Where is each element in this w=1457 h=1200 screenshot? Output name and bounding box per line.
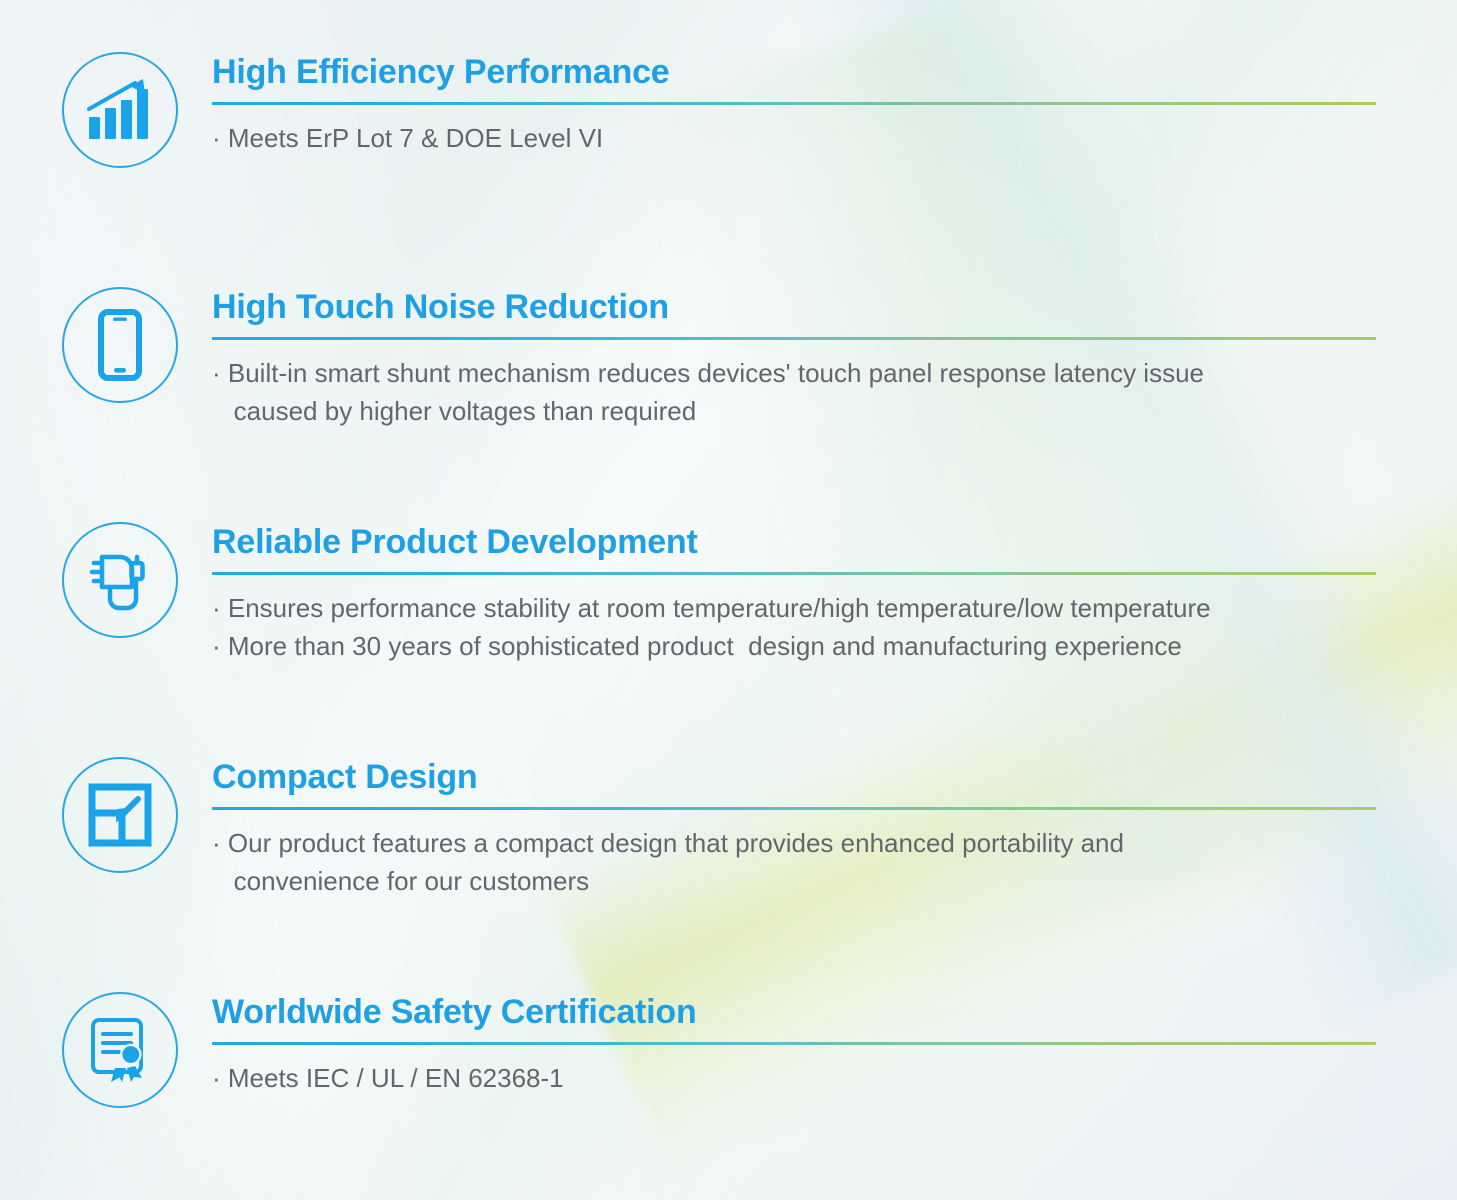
feature-divider xyxy=(212,807,1376,810)
feature-icon-wrap xyxy=(62,52,178,168)
feature-divider xyxy=(212,337,1376,340)
smartphone-icon xyxy=(62,287,178,403)
feature-bullets: · Ensures performance stability at room … xyxy=(212,589,1382,665)
feature-body: High Touch Noise Reduction · Built-in sm… xyxy=(212,287,1382,430)
feature-bullet: · More than 30 years of sophisticated pr… xyxy=(212,627,1382,665)
feature-bullets: · Our product features a compact design … xyxy=(212,824,1382,900)
feature-bullet: · Built-in smart shunt mechanism reduces… xyxy=(212,354,1382,430)
feature-divider xyxy=(212,1042,1376,1045)
feature-body: Reliable Product Development · Ensures p… xyxy=(212,522,1382,665)
compact-resize-icon xyxy=(62,757,178,873)
feature-divider xyxy=(212,572,1376,575)
feature-bullets: · Meets ErP Lot 7 & DOE Level VI xyxy=(212,119,1382,157)
feature-divider xyxy=(212,102,1376,105)
feature-title: High Efficiency Performance xyxy=(212,52,1382,92)
feature-bullets: · Meets IEC / UL / EN 62368-1 xyxy=(212,1059,1382,1097)
feature-body: High Efficiency Performance · Meets ErP … xyxy=(212,52,1382,157)
feature-icon-wrap xyxy=(62,992,178,1108)
feature-icon-wrap xyxy=(62,287,178,403)
feature-bullet: · Meets IEC / UL / EN 62368-1 xyxy=(212,1059,1382,1097)
feature-bullets: · Built-in smart shunt mechanism reduces… xyxy=(212,354,1382,430)
feature-bullet: · Our product features a compact design … xyxy=(212,824,1382,900)
feature-bullet: · Meets ErP Lot 7 & DOE Level VI xyxy=(212,119,1382,157)
certificate-seal-icon xyxy=(62,992,178,1108)
feature-title: Worldwide Safety Certification xyxy=(212,992,1382,1032)
feature-body: Worldwide Safety Certification · Meets I… xyxy=(212,992,1382,1097)
feature-title: High Touch Noise Reduction xyxy=(212,287,1382,327)
feature-icon-wrap xyxy=(62,522,178,638)
power-adapter-icon xyxy=(62,522,178,638)
feature-highlights-page: High Efficiency Performance · Meets ErP … xyxy=(0,0,1457,1200)
feature-body: Compact Design · Our product features a … xyxy=(212,757,1382,900)
feature-bullet: · Ensures performance stability at room … xyxy=(212,589,1382,627)
feature-title: Reliable Product Development xyxy=(212,522,1382,562)
bar-chart-growth-icon xyxy=(62,52,178,168)
feature-title: Compact Design xyxy=(212,757,1382,797)
feature-icon-wrap xyxy=(62,757,178,873)
